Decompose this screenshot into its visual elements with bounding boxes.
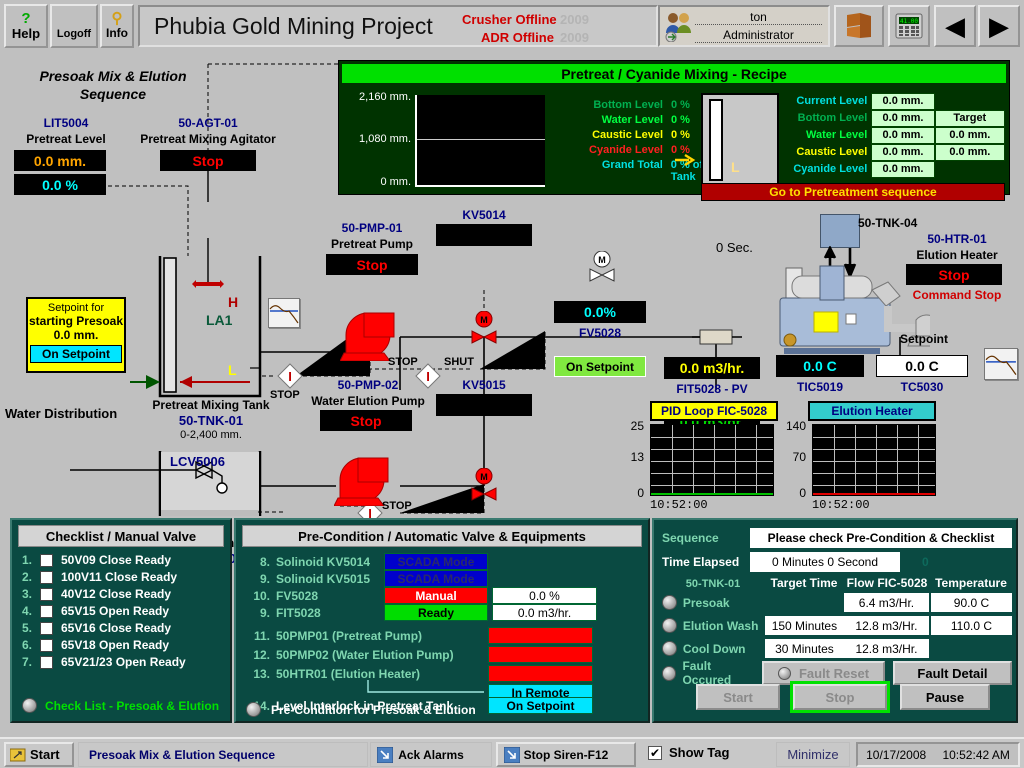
alarm-adr-count: 2009 <box>560 30 589 45</box>
precondition-row-mode[interactable]: SCADA Mode <box>384 570 488 587</box>
sequence-panel: Sequence Please check Pre-Condition & Ch… <box>652 518 1018 723</box>
step-name-elution-wash: Elution Wash <box>683 619 765 633</box>
precondition-status-lamp <box>246 702 261 717</box>
pid-ytick-mid: 13 <box>616 450 644 464</box>
alarm-adr-offline: ADR Offline <box>481 30 554 45</box>
precondition-header: Pre-Condition / Automatic Valve & Equipm… <box>242 525 642 547</box>
checklist-checkbox[interactable] <box>40 588 53 601</box>
alarm-arrow-icon <box>377 747 393 763</box>
tic5019-tag: TIC5019 <box>776 380 864 394</box>
pump2-tag: 50-PMP-02 <box>306 378 430 392</box>
checklist-footer: Check List - Presoak & Elution <box>45 699 219 713</box>
step-lamp-cool-down <box>662 641 677 656</box>
checklist-item-num: 1. <box>22 553 40 567</box>
step-temp-presoak: 90.0 C <box>931 593 1012 612</box>
checklist-item[interactable]: 4. 65V15 Open Ready <box>22 604 222 618</box>
fault-reset-label: Fault Reset <box>799 666 869 681</box>
pretreat-tank-name: Pretreat Mixing Tank <box>140 398 282 412</box>
heater-state[interactable]: Stop <box>906 264 1002 285</box>
tnk04-graphic <box>820 214 860 248</box>
checklist-item-label: 100V11 Close Ready <box>61 570 177 584</box>
user-role: Administrator <box>695 28 822 43</box>
step-flow-cool-down: 12.8 m3/Hr. <box>844 639 929 658</box>
ack-alarms-button[interactable]: Ack Alarms <box>370 742 492 767</box>
show-tag-toggle[interactable]: ✔ Show Tag <box>648 745 729 760</box>
keypad-button[interactable]: 41.00 <box>888 5 930 47</box>
page-title-text: Phubia Gold Mining Project <box>154 13 433 40</box>
pid-loop-chart[interactable] <box>650 424 774 496</box>
svg-text:41.00: 41.00 <box>900 18 918 25</box>
precondition-row[interactable]: 9. Solinoid KV5015 SCADA Mode <box>246 570 646 587</box>
pump-2-icon <box>334 454 394 506</box>
equip-row-label: 50HTR01 (Elution Heater) <box>276 667 488 681</box>
tc5030-setpoint-label: Setpoint <box>876 332 972 346</box>
setpoint-status: On Setpoint <box>30 345 122 363</box>
heater-ytick-top: 140 <box>772 419 806 433</box>
mimic-diagram: Presoak Mix & Elution Sequence LIT5004 P… <box>0 56 1024 516</box>
sequence-step-row[interactable]: Elution Wash 150 Minutes 12.8 m3/Hr. 110… <box>662 615 1012 636</box>
precondition-row-label: Solinoid KV5014 <box>276 555 384 569</box>
precondition-row-label: Solinoid KV5015 <box>276 572 384 586</box>
pump2-stop-tag: STOP <box>382 500 412 512</box>
checklist-item-label: 65V16 Close Ready <box>61 621 171 635</box>
tnk04-tag: 50-TNK-04 <box>858 216 948 230</box>
checklist-header: Checklist / Manual Valve <box>18 525 224 547</box>
show-tag-label: Show Tag <box>669 745 729 760</box>
equip-row-bar <box>488 665 593 682</box>
stop-siren-button[interactable]: Stop Siren-F12 <box>496 742 636 767</box>
heater-ytick-mid: 70 <box>772 450 806 464</box>
sequence-col-target-time: Target Time <box>764 576 844 590</box>
pump1-stop-tag: STOP <box>388 356 418 368</box>
kv5015-valve-icon: M <box>466 468 502 502</box>
heater-xlabel: 10:52:00 <box>812 498 870 512</box>
question-mark-icon: ? <box>21 12 30 26</box>
help-button-label: Help <box>12 26 40 41</box>
alarm-crusher-count: 2009 <box>560 12 589 27</box>
taskbar-task-label: Presoak Mix & Elution Sequence <box>89 748 275 762</box>
checklist-item-label: 65V18 Open Ready <box>61 638 169 652</box>
sequence-label: Sequence <box>662 531 750 545</box>
fv5028-value[interactable]: 0.0% <box>554 301 646 323</box>
trend-icon-heater[interactable] <box>984 348 1018 380</box>
taskbar-date: 10/17/2008 <box>866 748 926 762</box>
kv5015-tag: KV5015 <box>432 378 536 392</box>
precondition-equip-row[interactable]: 12. 50PMP02 (Water Elution Pump) <box>246 645 646 664</box>
time-elapsed-value: 0 Minutes 0 Second <box>750 552 900 572</box>
stop-button[interactable]: Stop <box>793 684 887 710</box>
pid-xlabel: 10:52:00 <box>650 498 708 512</box>
logoff-button[interactable]: Logoff <box>50 4 98 48</box>
taskbar-task-button[interactable]: Presoak Mix & Elution Sequence <box>78 742 368 767</box>
triangle-left-icon: ◀ <box>945 11 965 42</box>
sequence-status: Please check Pre-Condition & Checklist <box>750 528 1012 548</box>
pid-ytick-top: 25 <box>616 419 644 433</box>
tank-hi-label: H <box>228 294 238 310</box>
checklist-item-label: 65V21/23 Open Ready <box>61 655 186 669</box>
setpoint-line1: Setpoint for <box>28 302 124 314</box>
elution-heater-chart-title[interactable]: Elution Heater <box>808 401 936 421</box>
fv5028-tag: FV5028 <box>554 326 646 340</box>
pump1-state[interactable]: Stop <box>326 254 418 275</box>
precondition-row[interactable]: 10. FV5028 Manual 0.0 % <box>246 587 646 604</box>
kv5014-tag: KV5014 <box>432 208 536 222</box>
minimize-button[interactable]: Minimize <box>776 742 850 767</box>
fault-lamp <box>662 666 676 681</box>
nav-prev-button[interactable]: ◀ <box>934 5 976 47</box>
svg-text:M: M <box>480 472 488 482</box>
step-lamp-presoak <box>662 595 677 610</box>
checklist-item-num: 4. <box>22 604 40 618</box>
taskbar-time: 10:52:42 AM <box>942 748 1009 762</box>
info-button-label: Info <box>106 26 128 40</box>
fv5028-valve-icon: M <box>584 251 620 285</box>
precondition-row-num: 8. <box>246 555 270 569</box>
user-box[interactable]: ton Administrator <box>658 5 830 47</box>
equip-row-bar <box>488 627 593 644</box>
checklist-item-num: 3. <box>22 587 40 601</box>
checklist-checkbox[interactable] <box>40 571 53 584</box>
precondition-row-mode[interactable]: SCADA Mode <box>384 553 488 570</box>
mini-trend-icon-2 <box>985 349 1017 379</box>
precondition-row-value: 0.0 % <box>492 587 597 604</box>
checklist-checkbox[interactable] <box>40 554 53 567</box>
checklist-checkbox[interactable] <box>40 622 53 635</box>
alarm-crusher-offline: Crusher Offline <box>462 12 557 27</box>
pid-ytick-bottom: 0 <box>616 486 644 500</box>
stop-button-highlight: Stop <box>790 681 890 713</box>
equip-row-num: 12. <box>246 648 270 662</box>
mini-trend-icon <box>269 299 299 327</box>
interlock-stop-pump1[interactable]: I <box>276 362 304 390</box>
logoff-button-label: Logoff <box>57 28 91 40</box>
checklist-item[interactable]: 7. 65V21/23 Open Ready <box>22 655 222 669</box>
start-button[interactable]: Start <box>696 684 780 710</box>
sequence-step-row[interactable]: Cool Down 30 Minutes 12.8 m3/Hr. <box>662 638 1012 659</box>
checklist-checkbox[interactable] <box>40 605 53 618</box>
fit5028-pv-tag: FIT5028 - PV <box>664 382 760 396</box>
precondition-row-label: FIT5028 <box>276 606 384 620</box>
step-temp-cool-down <box>931 639 1012 658</box>
step-temp-elution-wash: 110.0 C <box>931 616 1012 635</box>
fit5028-pv-value[interactable]: 0.0 m3/hr. <box>664 357 760 379</box>
checklist-item[interactable]: 3. 40V12 Close Ready <box>22 587 222 601</box>
checklist-item[interactable]: 5. 65V16 Close Ready <box>22 621 222 635</box>
pause-button[interactable]: Pause <box>900 684 990 710</box>
equip-row-bar <box>488 646 593 663</box>
pid-loop-chart-title[interactable]: PID Loop FIC-5028 <box>650 401 778 421</box>
checklist-item-label: 50V09 Close Ready <box>61 553 171 567</box>
step-name-cool-down: Cool Down <box>683 642 765 656</box>
sequence-timer: 0 Sec. <box>716 240 753 255</box>
precondition-status-row: Pre-Condition for Presoak & Elution <box>246 702 476 717</box>
header-bar: ? Help Logoff ⚲ Info Phubia Gold Mining … <box>0 0 1024 52</box>
hmi-screen: ? Help Logoff ⚲ Info Phubia Gold Mining … <box>0 0 1024 768</box>
checklist-item-num: 6. <box>22 638 40 652</box>
equip-row-label: 50PMP01 (Pretreat Pump) <box>276 629 488 643</box>
precondition-equip-row[interactable]: 11. 50PMP01 (Pretreat Pump) <box>246 626 646 645</box>
step-lamp-elution-wash <box>662 618 677 633</box>
svg-text:I: I <box>288 369 292 384</box>
checklist-item-num: 7. <box>22 655 40 669</box>
key-icon: ⚲ <box>112 12 123 26</box>
checklist-item-num: 5. <box>22 621 40 635</box>
precondition-row-value: 0.0 m3/hr. <box>492 604 597 621</box>
heater-desc: Elution Heater <box>902 248 1012 262</box>
precondition-row-num: 9. <box>246 572 270 586</box>
presoak-setpoint-box[interactable]: Setpoint for starting Presoak 0.0 mm. On… <box>26 297 126 373</box>
kv5014-state[interactable] <box>436 224 532 246</box>
user-name: ton <box>695 10 822 25</box>
heater-command: Command Stop <box>902 288 1012 302</box>
checklist-item-label: 65V15 Open Ready <box>61 604 169 618</box>
sequence-col-flow: Flow FIC-5028 <box>844 576 930 590</box>
checklist-checkbox[interactable] <box>40 639 53 652</box>
taskbar: Start Presoak Mix & Elution Sequence Ack… <box>0 737 1024 768</box>
tc5030-value[interactable]: 0.0 C <box>876 355 968 377</box>
equip-bracket-icon <box>366 680 486 696</box>
checklist-panel: Checklist / Manual Valve 1. 50V09 Close … <box>10 518 232 723</box>
tank-alarm-label: LA1 <box>206 312 232 328</box>
kv5014-valve-icon: M <box>466 311 502 345</box>
sequence-col-temp: Temperature <box>930 576 1012 590</box>
help-button[interactable]: ? Help <box>4 4 48 48</box>
pretreat-tank-tag: 50-TNK-01 <box>140 413 282 428</box>
water-distribution-label: Water Distribution <box>5 406 117 421</box>
equip-row-num: 13. <box>246 667 270 681</box>
pump-1-icon <box>340 309 400 361</box>
time-elapsed-ghost: 0 <box>922 555 929 569</box>
step-time-cool-down: 30 Minutes <box>765 639 844 658</box>
ack-alarms-label: Ack Alarms <box>398 748 464 762</box>
time-elapsed-label: Time Elapsed <box>662 555 750 569</box>
equip-row-label: 50PMP02 (Water Elution Pump) <box>276 648 488 662</box>
tc5030-tag: TC5030 <box>876 380 968 394</box>
step-name-presoak: Presoak <box>683 596 765 610</box>
pump1-tag: 50-PMP-01 <box>312 221 432 235</box>
svg-text:M: M <box>480 315 488 325</box>
taskbar-clock: 10/17/2008 10:52:42 AM <box>856 742 1020 767</box>
precondition-footer: Pre-Condition for Presoak & Elution <box>271 703 476 717</box>
keypad-icon: 41.00 <box>894 12 924 40</box>
precondition-row-mode[interactable]: Ready <box>384 604 488 621</box>
pump2-state[interactable]: Stop <box>320 410 412 431</box>
precondition-row[interactable]: 9. FIT5028 Ready 0.0 m3/hr. <box>246 604 646 621</box>
checklist-item[interactable]: 1. 50V09 Close Ready <box>22 553 222 567</box>
precondition-row-num: 10. <box>246 589 270 603</box>
sequence-tank-tag: 50-TNK-01 <box>662 578 764 590</box>
setpoint-value: 0.0 mm. <box>28 328 124 342</box>
step-time-presoak <box>765 593 844 612</box>
svg-text:M: M <box>598 255 606 265</box>
checklist-item[interactable]: 6. 65V18 Open Ready <box>22 638 222 652</box>
checklist-item-num: 2. <box>22 570 40 584</box>
precondition-row-num: 9. <box>246 606 270 620</box>
checklist-item-label: 40V12 Close Ready <box>61 587 171 601</box>
step-time-elution-wash: 150 Minutes <box>765 616 844 635</box>
triangle-right-icon: ▶ <box>989 11 1009 42</box>
stop-siren-label: Stop Siren-F12 <box>524 748 609 762</box>
step-flow-elution-wash: 12.8 m3/Hr. <box>844 616 929 635</box>
lcv5006-tag: LCV5006 <box>170 454 225 469</box>
checklist-item[interactable]: 2. 100V11 Close Ready <box>22 570 222 584</box>
heater-ytick-bottom: 0 <box>772 486 806 500</box>
tank-lo-label: L <box>228 362 237 378</box>
fv5028-status: On Setpoint <box>554 356 646 377</box>
interlock-diamond-icon: I <box>276 362 304 390</box>
precondition-row-mode[interactable]: Manual <box>384 587 488 604</box>
show-tag-checkbox[interactable]: ✔ <box>648 746 662 760</box>
elution-heater-chart[interactable] <box>812 424 936 496</box>
start-menu-button[interactable]: Start <box>4 742 74 767</box>
fault-reset-lamp <box>778 667 791 680</box>
step-flow-presoak: 6.4 m3/Hr. <box>844 593 929 612</box>
users-icon <box>663 10 695 42</box>
precondition-panel: Pre-Condition / Automatic Valve & Equipm… <box>234 518 650 723</box>
start-menu-label: Start <box>30 747 60 762</box>
checklist-status-lamp <box>22 698 37 713</box>
pump2-desc: Water Elution Pump <box>294 394 442 408</box>
nav-next-button[interactable]: ▶ <box>978 5 1020 47</box>
trend-icon-tank[interactable] <box>268 298 300 328</box>
folder-icon <box>844 12 874 40</box>
precondition-row-label: FV5028 <box>276 589 384 603</box>
equip-row-num: 11. <box>246 629 270 643</box>
pump1-desc: Pretreat Pump <box>306 237 438 251</box>
info-button[interactable]: ⚲ Info <box>100 4 134 48</box>
windows-start-icon <box>10 748 26 762</box>
kv5015-state[interactable] <box>436 394 532 416</box>
pretreat-tank-range: 0-2,400 mm. <box>140 429 282 441</box>
heater-tag: 50-HTR-01 <box>902 232 1012 246</box>
checklist-status-row: Check List - Presoak & Elution <box>22 698 219 713</box>
setpoint-line2: starting Presoak <box>28 314 124 328</box>
kv5014-shut-tag: SHUT <box>444 356 474 368</box>
sequence-step-row[interactable]: Presoak 6.4 m3/Hr. 90.0 C <box>662 592 1012 613</box>
tic5019-value[interactable]: 0.0 C <box>776 355 864 377</box>
flow-element-icon <box>692 328 742 348</box>
siren-arrow-icon <box>504 747 520 763</box>
checklist-checkbox[interactable] <box>40 656 53 669</box>
folder-button[interactable] <box>834 5 884 47</box>
precondition-row[interactable]: 8. Solinoid KV5014 SCADA Mode <box>246 553 646 570</box>
interlock-state: On Setpoint <box>488 697 593 714</box>
